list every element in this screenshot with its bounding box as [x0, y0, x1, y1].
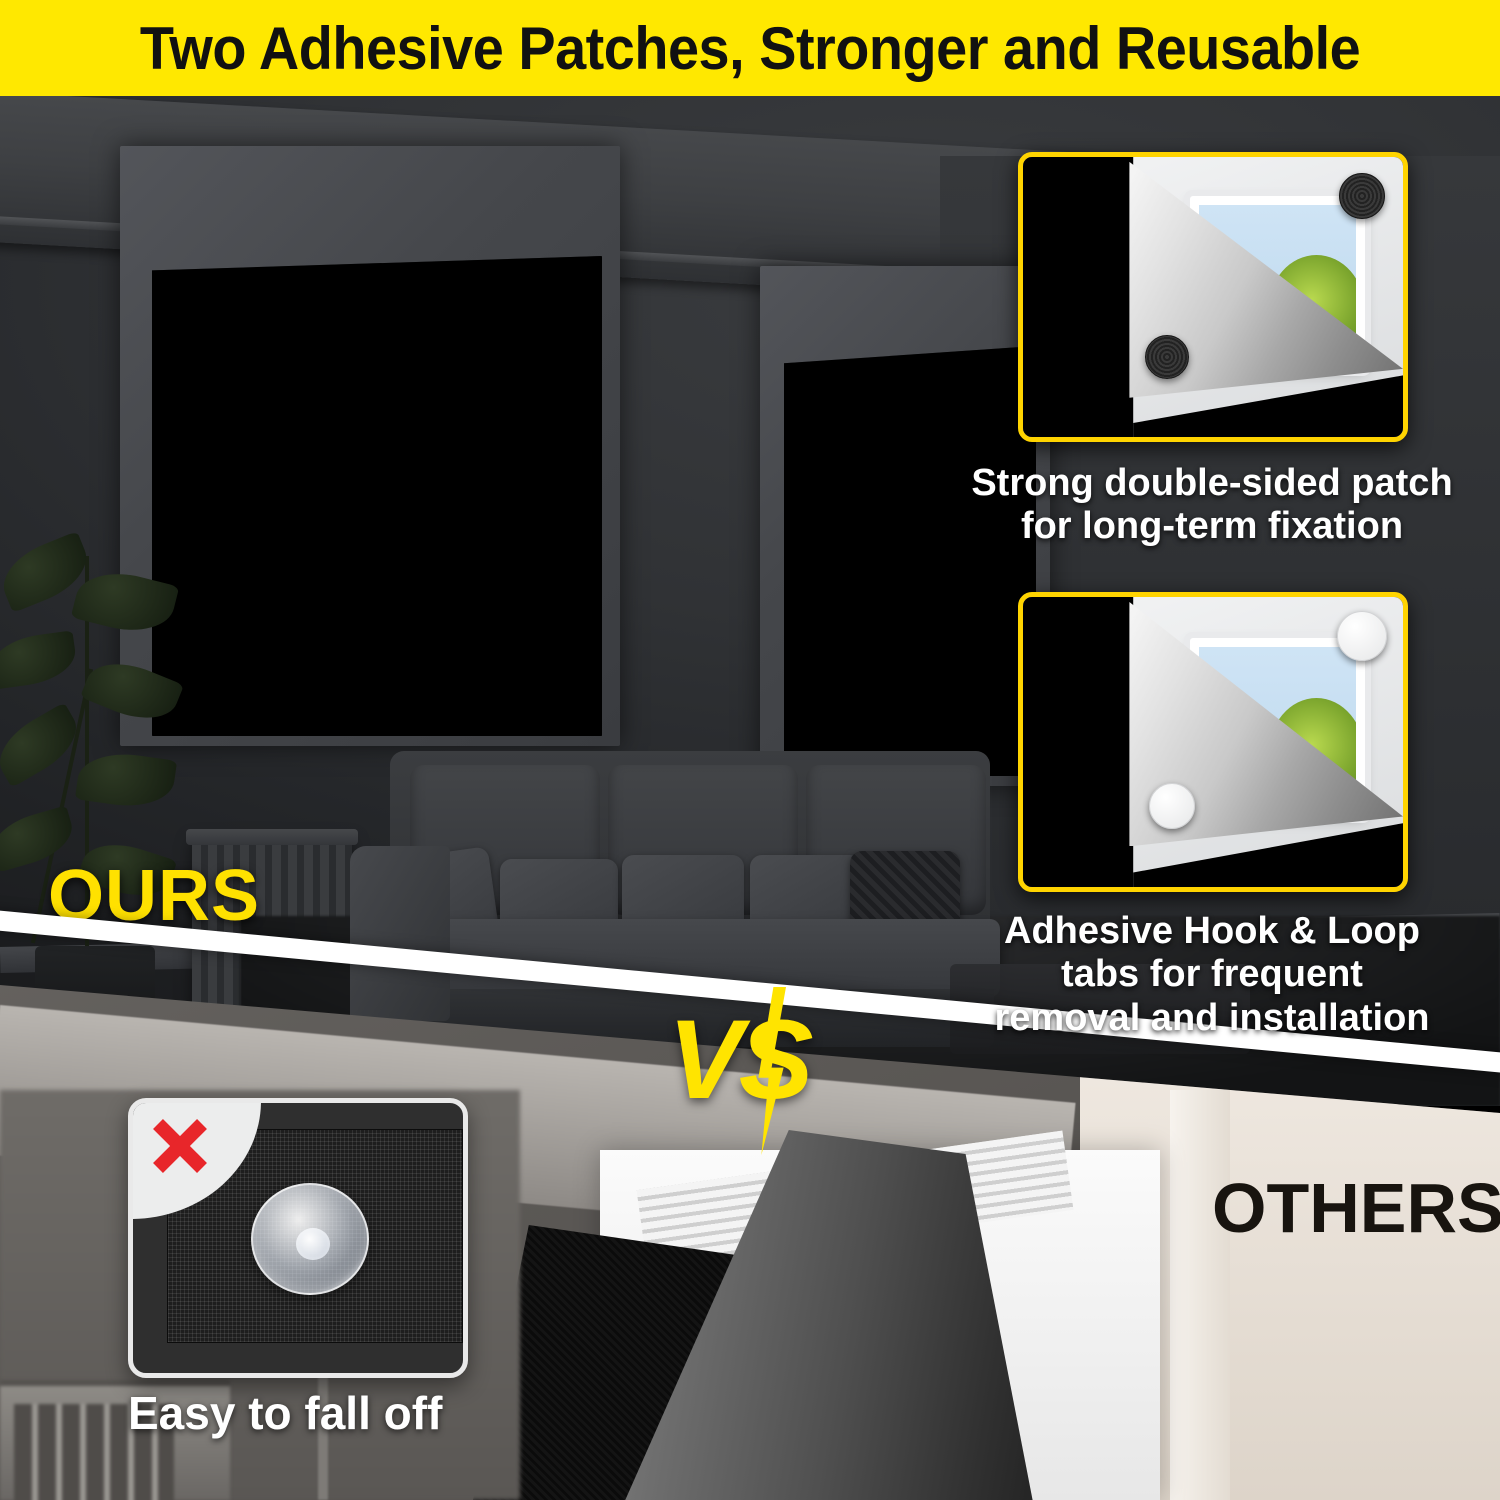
blackout-panel [784, 346, 1036, 776]
inset-double-sided-patch [1018, 152, 1408, 442]
caption-line: tabs for frequent [952, 953, 1472, 996]
caption-line: Strong double-sided patch [952, 462, 1472, 505]
hook-loop-tab-top [1337, 611, 1387, 661]
caption-easy-to-fall-off: Easy to fall off [128, 1386, 442, 1440]
wall-column [1170, 1090, 1230, 1500]
banner-title: Two Adhesive Patches, Stronger and Reusa… [140, 14, 1360, 83]
sofa-arm [350, 846, 450, 1021]
adhesive-patch-bottom [1145, 335, 1189, 379]
caption-double-sided-patch: Strong double-sided patch for long-term … [952, 462, 1472, 549]
caption-line: removal and installation [952, 997, 1472, 1040]
potted-plant [0, 516, 200, 1036]
caption-line: Adhesive Hook & Loop [952, 910, 1472, 953]
suction-cup [251, 1183, 369, 1295]
header-banner: Two Adhesive Patches, Stronger and Reusa… [0, 0, 1500, 96]
inset-hook-and-loop [1018, 592, 1408, 892]
caption-hook-and-loop: Adhesive Hook & Loop tabs for frequent r… [952, 910, 1472, 1040]
inset-suction-cup [128, 1098, 468, 1378]
adhesive-patch-top [1339, 173, 1385, 219]
hook-loop-tab-bottom [1149, 783, 1195, 829]
cross-mark-icon [145, 1111, 215, 1181]
vs-badge: VS [668, 995, 888, 1145]
vs-label: VS [668, 995, 809, 1124]
caption-line: for long-term fixation [952, 505, 1472, 548]
others-label: OTHERS [1212, 1168, 1500, 1248]
infographic-stage: OURS OTHERS Strong double [0, 0, 1500, 1500]
blackout-panel [152, 256, 602, 736]
